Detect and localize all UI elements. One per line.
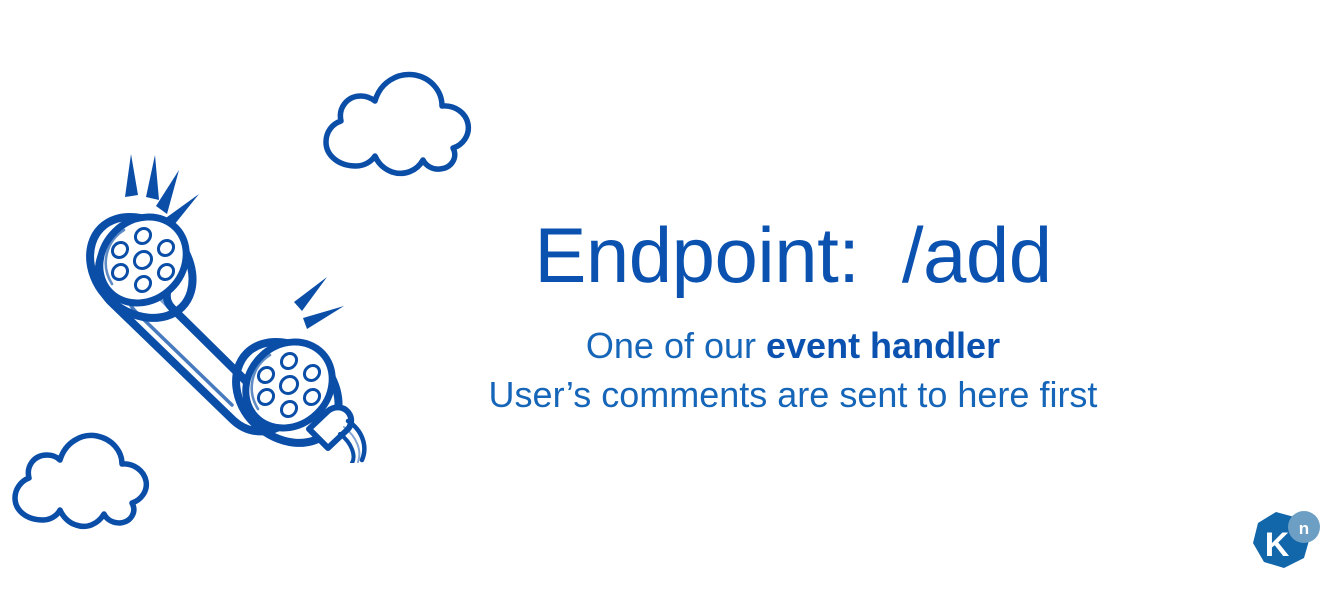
subtitle-prefix: One of our — [586, 325, 766, 366]
cloud-icon — [2, 424, 164, 536]
cloud-icon — [312, 62, 484, 184]
slide-text-block: Endpoint: /add One of our event handler … — [463, 216, 1123, 416]
logo-letter-n: n — [1299, 519, 1309, 538]
slide-canvas: Endpoint: /add One of our event handler … — [0, 0, 1343, 595]
telephone-handset-icon — [62, 138, 372, 463]
subtitle-emphasis: event handler — [766, 325, 1000, 366]
subtitle-line-2: User’s comments are sent to here first — [463, 373, 1123, 416]
brand-logo: K n — [1244, 506, 1322, 578]
page-title: Endpoint: /add — [463, 216, 1123, 294]
subtitle-line-1: One of our event handler — [463, 324, 1123, 367]
logo-letter-k: K — [1265, 526, 1290, 564]
